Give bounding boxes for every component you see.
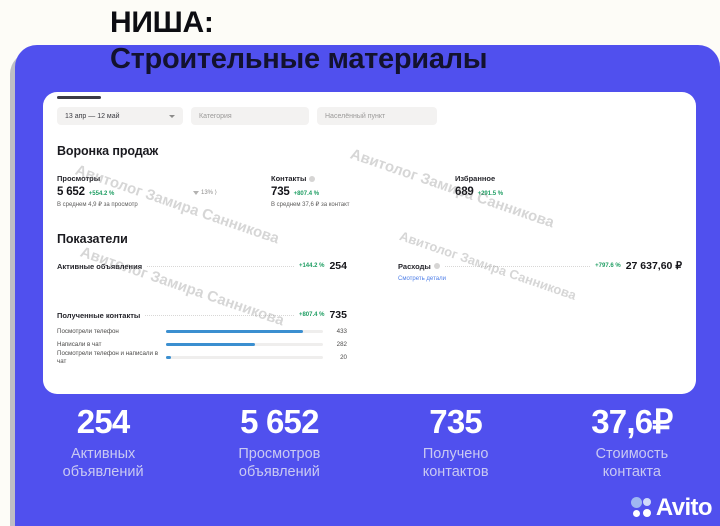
indicator-active-ads-delta: +144.2 % [299,263,325,269]
summary-stat-number: 37,6₽ [544,404,720,440]
metric-views-sub: В среднем 4,9 ₽ за просмотр [57,201,138,208]
bar-label: Посмотрели телефон и написали в чат [57,350,160,366]
metric-contacts-delta: +807.4 % [294,191,320,197]
summary-stat-active-ads: 254 Активных объявлений [15,404,191,482]
locality-placeholder: Населённый пункт [325,113,385,120]
metric-favourites: Избранное 689 +291.5 % [455,174,503,198]
summary-stat-caption: Активных объявлений [15,445,191,481]
date-range-value: 13 апр — 12 май [65,113,120,120]
summary-stat-caption: Получено контактов [368,445,544,481]
bar-value: 282 [329,341,347,348]
metric-favourites-label: Избранное [455,174,503,183]
indicator-spend-label-text: Расходы [398,262,431,271]
indicator-spend-label: Расходы [398,262,440,271]
summary-stat-cost-per-contact: 37,6₽ Стоимость контакта [544,404,720,482]
metric-views-delta: +554.2 % [89,191,115,197]
received-contacts-bar-chart: Посмотрели телефон 433 Написали в чат 28… [57,325,347,364]
indicators-section-title: Показатели [57,232,128,246]
funnel-section-title: Воронка продаж [57,144,158,158]
locality-filter[interactable]: Населённый пункт [317,107,437,125]
row-leader-line [147,266,294,267]
info-icon[interactable] [434,263,440,269]
bar-row: Посмотрели телефон 433 [57,325,347,338]
metric-views: Просмотры 5 652 +554.2 % В среднем 4,9 ₽… [57,174,138,208]
indicator-row-active-ads: Активные объявления +144.2 % 254 [57,260,347,272]
received-contacts-delta: +807.4 % [299,312,325,318]
category-filter[interactable]: Категория [191,107,309,125]
conversion-chip[interactable]: 13% ⟩ [193,189,217,196]
view-details-link[interactable]: Смотреть детали [398,276,446,282]
summary-stats-bar: 254 Активных объявлений 5 652 Просмотров… [15,404,720,482]
received-contacts-header: Полученные контакты +807.4 % 735 [57,309,347,321]
bar-value: 433 [329,328,347,335]
metric-contacts-label: Контакты [271,174,350,183]
bar-value: 20 [329,354,347,361]
row-leader-line [445,266,590,267]
category-placeholder: Категория [199,113,232,120]
summary-stat-views: 5 652 Просмотров объявлений [191,404,367,482]
summary-stat-caption: Просмотров объявлений [191,445,367,481]
summary-stat-contacts: 735 Получено контактов [368,404,544,482]
funnel-triangle-icon [193,191,199,195]
indicator-row-spend: Расходы +797.6 % 27 637,60 ₽ [398,260,682,272]
chevron-down-icon [169,115,175,118]
bar-track [166,330,323,333]
analytics-dashboard-card: 13 апр — 12 май Категория Населённый пун… [43,92,696,394]
avito-dots-icon [631,497,653,519]
conversion-chip-label: 13% ⟩ [201,189,217,196]
indicator-active-ads-value: 254 [329,260,347,272]
metric-contacts-sub: В среднем 37,6 ₽ за контакт [271,201,350,208]
indicator-spend-value: 27 637,60 ₽ [626,260,682,272]
metric-contacts-label-text: Контакты [271,174,306,183]
active-tab-indicator[interactable] [57,96,101,99]
bar-fill [166,330,303,333]
bar-fill [166,343,255,346]
headline-niche-value: Строительные материалы [110,43,487,77]
metric-contacts: Контакты 735 +807.4 % В среднем 37,6 ₽ з… [271,174,350,208]
bar-track [166,356,323,359]
bar-track [166,343,323,346]
bar-label: Написали в чат [57,341,160,349]
bar-label: Посмотрели телефон [57,328,160,336]
summary-stat-number: 5 652 [191,404,367,440]
metric-views-label: Просмотры [57,174,138,183]
avito-logo: Avito [631,494,712,522]
bar-row: Посмотрели телефон и написали в чат 20 [57,351,347,364]
metric-contacts-value: 735 [271,186,290,198]
row-leader-line [145,315,294,316]
summary-stat-number: 254 [15,404,191,440]
metric-views-value: 5 652 [57,186,85,198]
page-title: НИША: Строительные материалы [110,6,487,76]
indicator-active-ads-label: Активные объявления [57,262,142,271]
headline-niche-label: НИША: [110,6,487,41]
metric-favourites-delta: +291.5 % [478,191,504,197]
filter-bar: 13 апр — 12 май Категория Населённый пун… [57,107,437,125]
info-icon[interactable] [309,176,315,182]
summary-stat-number: 735 [368,404,544,440]
bar-fill [166,356,171,359]
summary-stat-caption: Стоимость контакта [544,445,720,481]
indicator-spend-delta: +797.6 % [595,263,621,269]
avito-wordmark: Avito [656,494,712,522]
received-contacts-title: Полученные контакты [57,311,140,320]
date-range-filter[interactable]: 13 апр — 12 май [57,107,183,125]
metric-favourites-value: 689 [455,186,474,198]
received-contacts-total: 735 [329,309,347,321]
